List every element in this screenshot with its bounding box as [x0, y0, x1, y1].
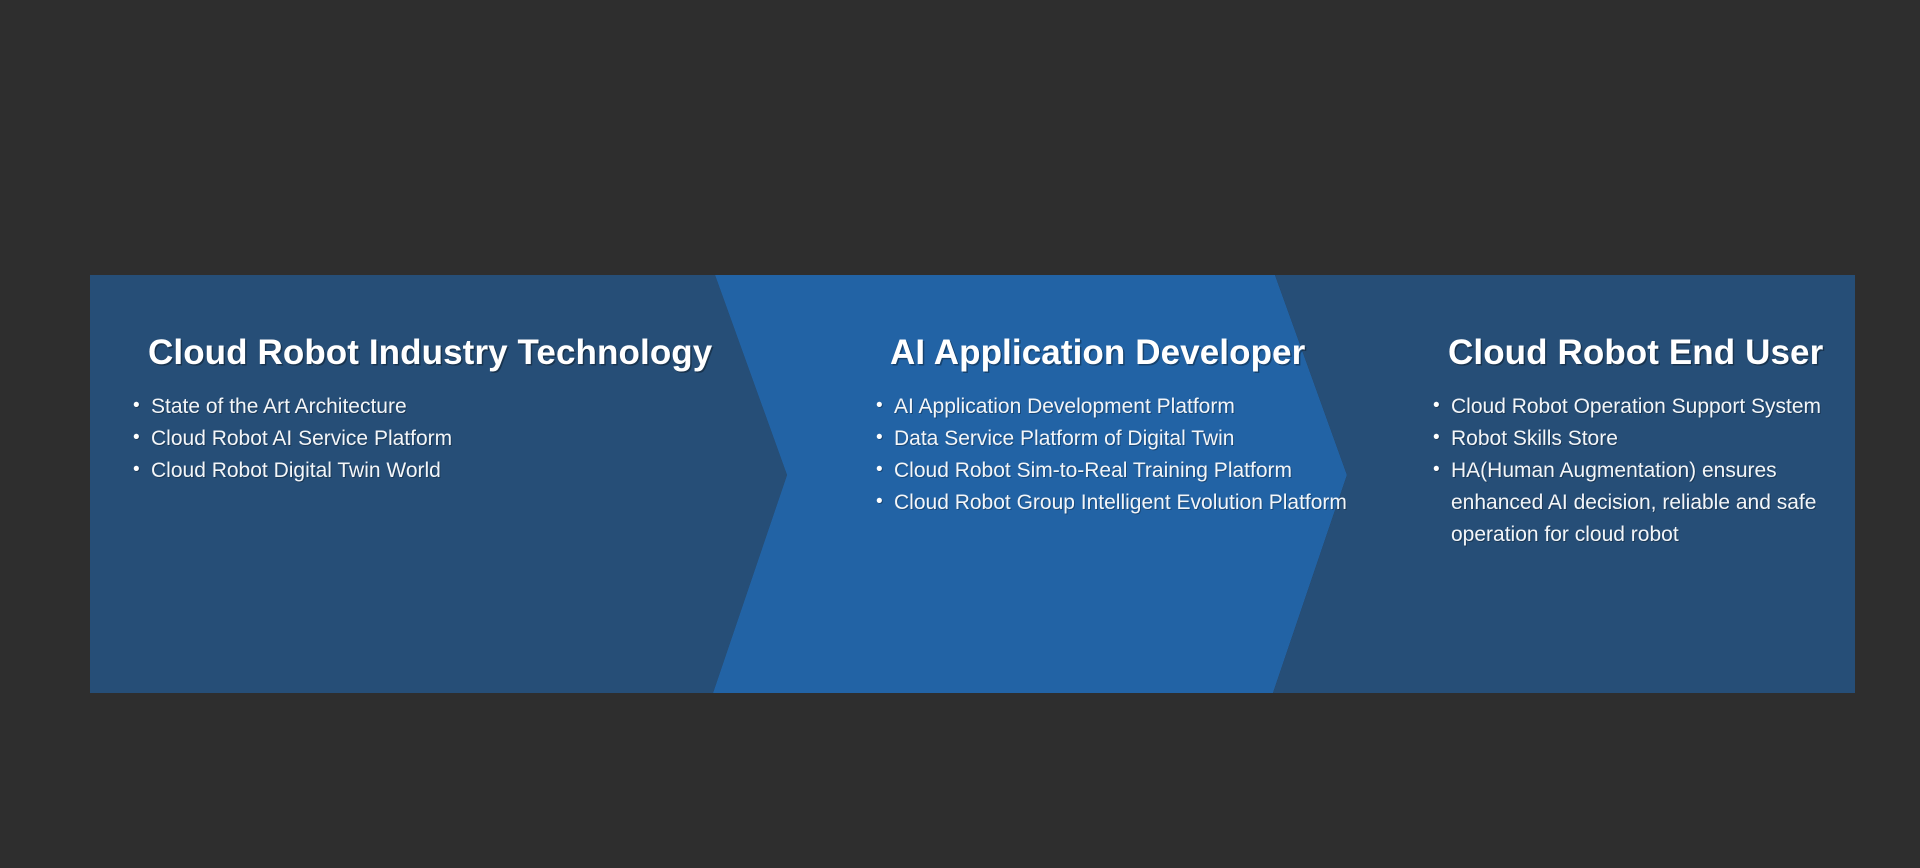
list-item: Cloud Robot AI Service Platform	[132, 423, 692, 455]
list-item: AI Application Development Platform	[875, 391, 1355, 423]
segment-2-title: AI Application Developer	[890, 333, 1305, 373]
list-item: Cloud Robot Digital Twin World	[132, 455, 692, 487]
chevron-band: Cloud Robot Industry Technology State of…	[90, 275, 1855, 693]
chevron-segment-2[interactable]: AI Application Developer AI Application …	[790, 275, 1350, 693]
list-item: Data Service Platform of Digital Twin	[875, 423, 1355, 455]
list-item: Cloud Robot Operation Support System	[1432, 391, 1852, 423]
segment-3-bullet-list: Cloud Robot Operation Support System Rob…	[1432, 391, 1852, 551]
segment-1-title: Cloud Robot Industry Technology	[148, 333, 712, 373]
list-item: Robot Skills Store	[1432, 423, 1852, 455]
chevron-segment-1[interactable]: Cloud Robot Industry Technology State of…	[90, 275, 790, 693]
segment-3-title: Cloud Robot End User	[1448, 333, 1823, 373]
list-item: HA(Human Augmentation) ensures enhanced …	[1432, 455, 1852, 551]
list-item: State of the Art Architecture	[132, 391, 692, 423]
slide-canvas: Cloud Robot Industry Technology State of…	[0, 0, 1920, 868]
chevron-segment-3[interactable]: Cloud Robot End User Cloud Robot Operati…	[1350, 275, 1855, 693]
list-item: Cloud Robot Group Intelligent Evolution …	[875, 487, 1355, 519]
segment-2-bullet-list: AI Application Development Platform Data…	[875, 391, 1355, 519]
list-item: Cloud Robot Sim-to-Real Training Platfor…	[875, 455, 1355, 487]
segment-1-bullet-list: State of the Art Architecture Cloud Robo…	[132, 391, 692, 487]
